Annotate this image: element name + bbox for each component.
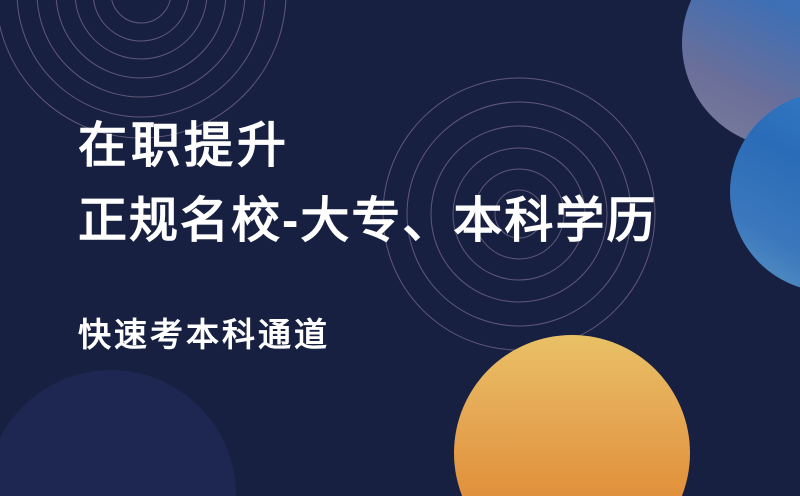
headline-line-1: 在职提升 xyxy=(78,122,768,171)
dark-circle-decor xyxy=(0,370,236,496)
headline-line-2: 正规名校-大专、本科学历 xyxy=(78,197,768,246)
subheadline: 快速考本科通道 xyxy=(78,318,330,351)
orange-circle-decor xyxy=(454,335,690,496)
promo-banner: 在职提升 正规名校-大专、本科学历 快速考本科通道 xyxy=(0,0,800,496)
headline-block: 在职提升 正规名校-大专、本科学历 xyxy=(78,122,768,246)
background-decoration xyxy=(0,0,800,496)
